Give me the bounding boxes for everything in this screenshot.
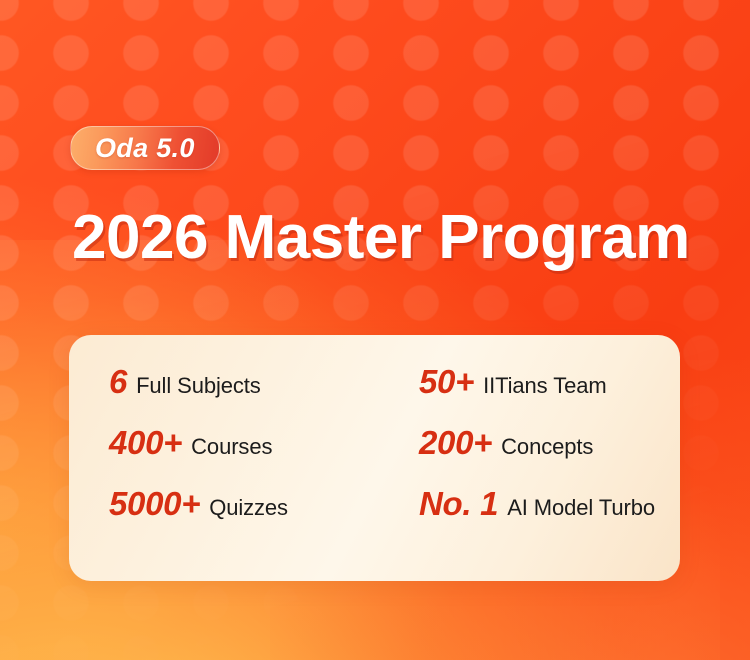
version-badge-label: Oda 5.0	[95, 135, 195, 162]
promo-banner: Oda 5.0 2026 Master Program 6 Full Subje…	[0, 0, 750, 660]
stat-item-iitians-team: 50+ IITians Team	[395, 365, 680, 426]
stat-item-ai-model-turbo: No. 1 AI Model Turbo	[395, 487, 680, 548]
stat-label: IITians Team	[483, 375, 607, 397]
version-badge: Oda 5.0	[70, 126, 220, 170]
stat-label: Courses	[191, 436, 272, 458]
stat-label: Quizzes	[209, 497, 288, 519]
stat-value: No. 1	[419, 487, 498, 520]
stat-value: 400+	[109, 426, 182, 459]
stat-label: Concepts	[501, 436, 593, 458]
stat-label: AI Model Turbo	[507, 497, 655, 519]
stat-item-courses: 400+ Courses	[69, 426, 395, 487]
stats-card: 6 Full Subjects 50+ IITians Team 400+ Co…	[69, 335, 680, 581]
page-title: 2026 Master Program	[72, 203, 690, 272]
stat-item-concepts: 200+ Concepts	[395, 426, 680, 487]
stat-value: 6	[109, 365, 127, 398]
stat-value: 200+	[419, 426, 492, 459]
stat-value: 5000+	[109, 487, 200, 520]
stat-value: 50+	[419, 365, 474, 398]
stat-item-full-subjects: 6 Full Subjects	[69, 365, 395, 426]
stat-label: Full Subjects	[136, 375, 261, 397]
stat-item-quizzes: 5000+ Quizzes	[69, 487, 395, 548]
